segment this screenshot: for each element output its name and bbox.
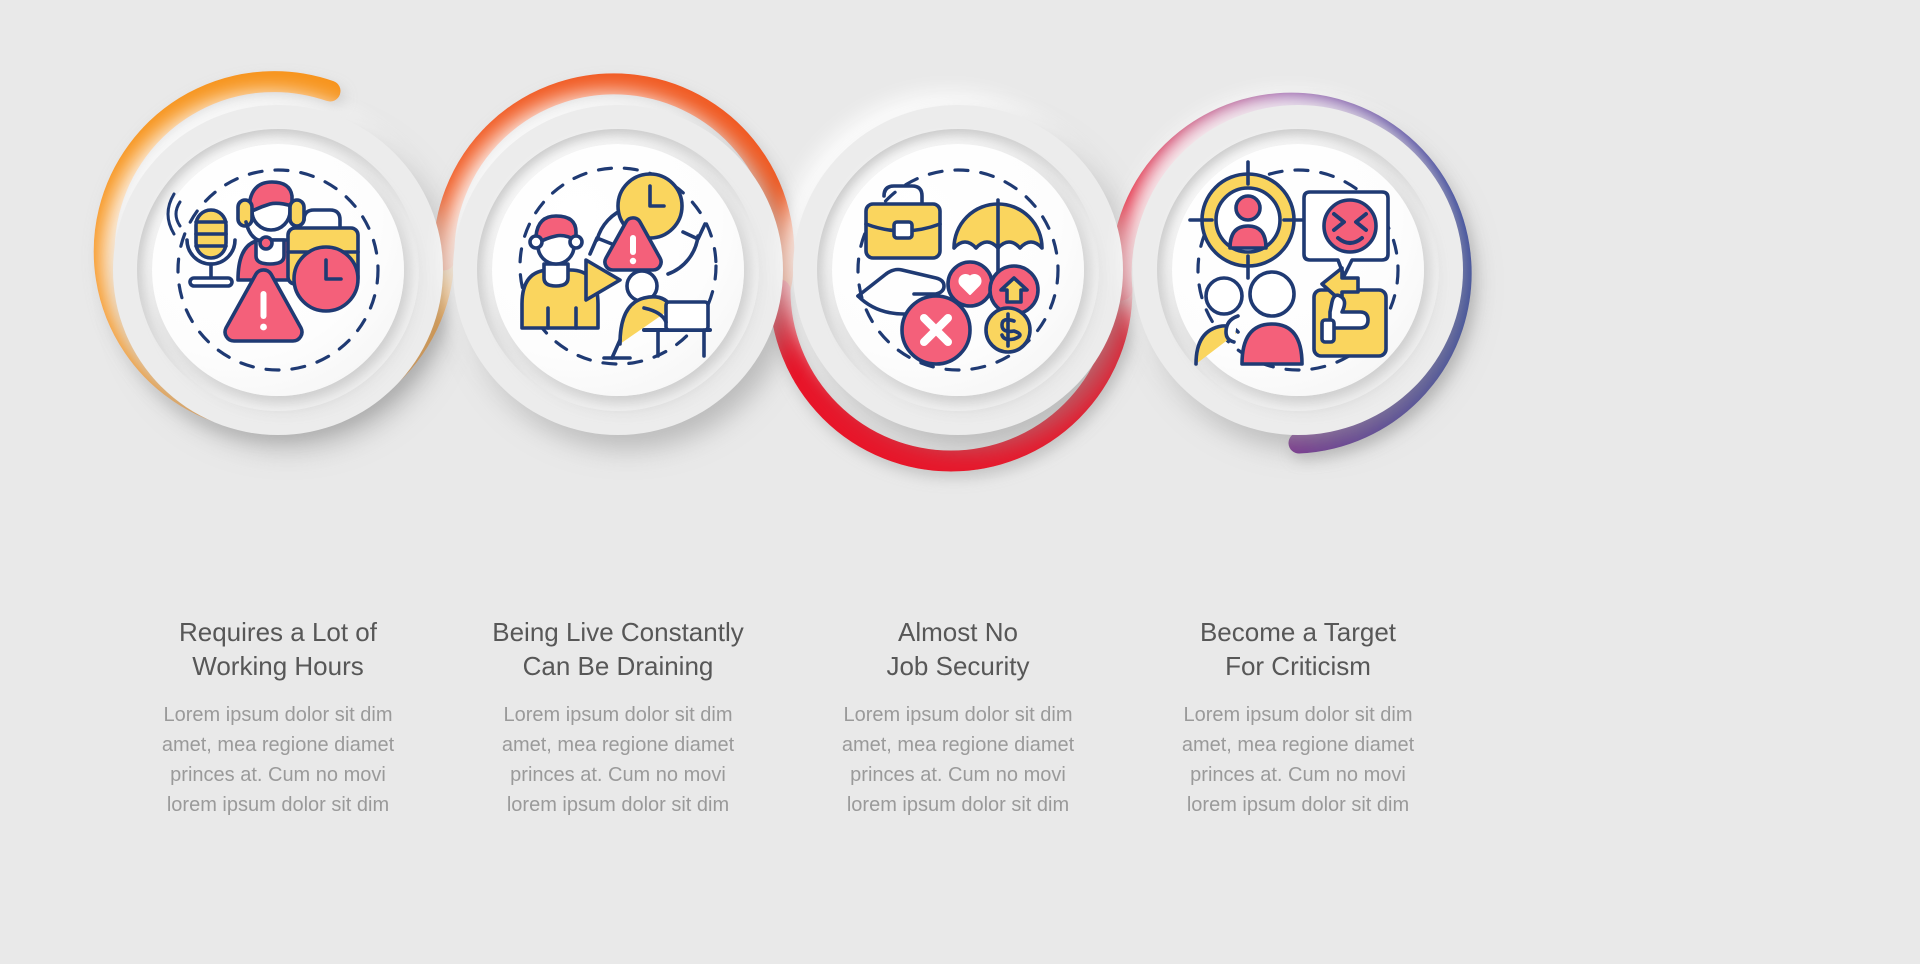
- live-streamer-clock-warning-desk-icon: [492, 144, 744, 396]
- step-text-4: Become a Target For Criticism Lorem ipsu…: [1128, 615, 1468, 820]
- step-title-3: Almost No Job Security: [788, 615, 1128, 684]
- briefcase-hand-umbrella-money-cross-icon: [832, 144, 1084, 396]
- icon-slot-1: [152, 144, 404, 396]
- briefcase-icon: [866, 186, 940, 258]
- icon-slot-3: [832, 144, 1084, 396]
- step-body-2: Lorem ipsum dolor sit dim amet, mea regi…: [448, 700, 788, 820]
- clock-warning-icon: [605, 174, 682, 270]
- step-title-1: Requires a Lot of Working Hours: [108, 615, 448, 684]
- dollar-badge-icon: [986, 308, 1030, 352]
- step-text-3: Almost No Job Security Lorem ipsum dolor…: [788, 615, 1128, 820]
- step-body-4: Lorem ipsum dolor sit dim amet, mea regi…: [1128, 700, 1468, 820]
- icon-slot-2: [492, 144, 744, 396]
- headset-operator-briefcase-clock-warning-icon: [152, 144, 404, 396]
- angry-emoji-bubble-icon: [1304, 192, 1388, 276]
- step-title-4: Become a Target For Criticism: [1128, 615, 1468, 684]
- person-at-desk-icon: [604, 271, 710, 358]
- icon-slot-4: [1172, 144, 1424, 396]
- heart-badge-icon: [948, 262, 992, 306]
- cross-circle-icon: [902, 296, 970, 364]
- step-text-2: Being Live Constantly Can Be Draining Lo…: [448, 615, 788, 820]
- infographic-root: Requires a Lot of Working Hours Lorem ip…: [0, 0, 1920, 964]
- clock-icon: [294, 247, 358, 311]
- step-title-2: Being Live Constantly Can Be Draining: [448, 615, 788, 684]
- target-person-icon: [1190, 162, 1306, 278]
- thumbs-down-card-icon: [1314, 268, 1386, 356]
- step-body-3: Lorem ipsum dolor sit dim amet, mea regi…: [788, 700, 1128, 820]
- house-badge-icon: [990, 266, 1038, 314]
- step-body-1: Lorem ipsum dolor sit dim amet, mea regi…: [108, 700, 448, 820]
- step-text-1: Requires a Lot of Working Hours Lorem ip…: [108, 615, 448, 820]
- target-person-angry-emoji-thumbs-down-icon: [1172, 144, 1424, 396]
